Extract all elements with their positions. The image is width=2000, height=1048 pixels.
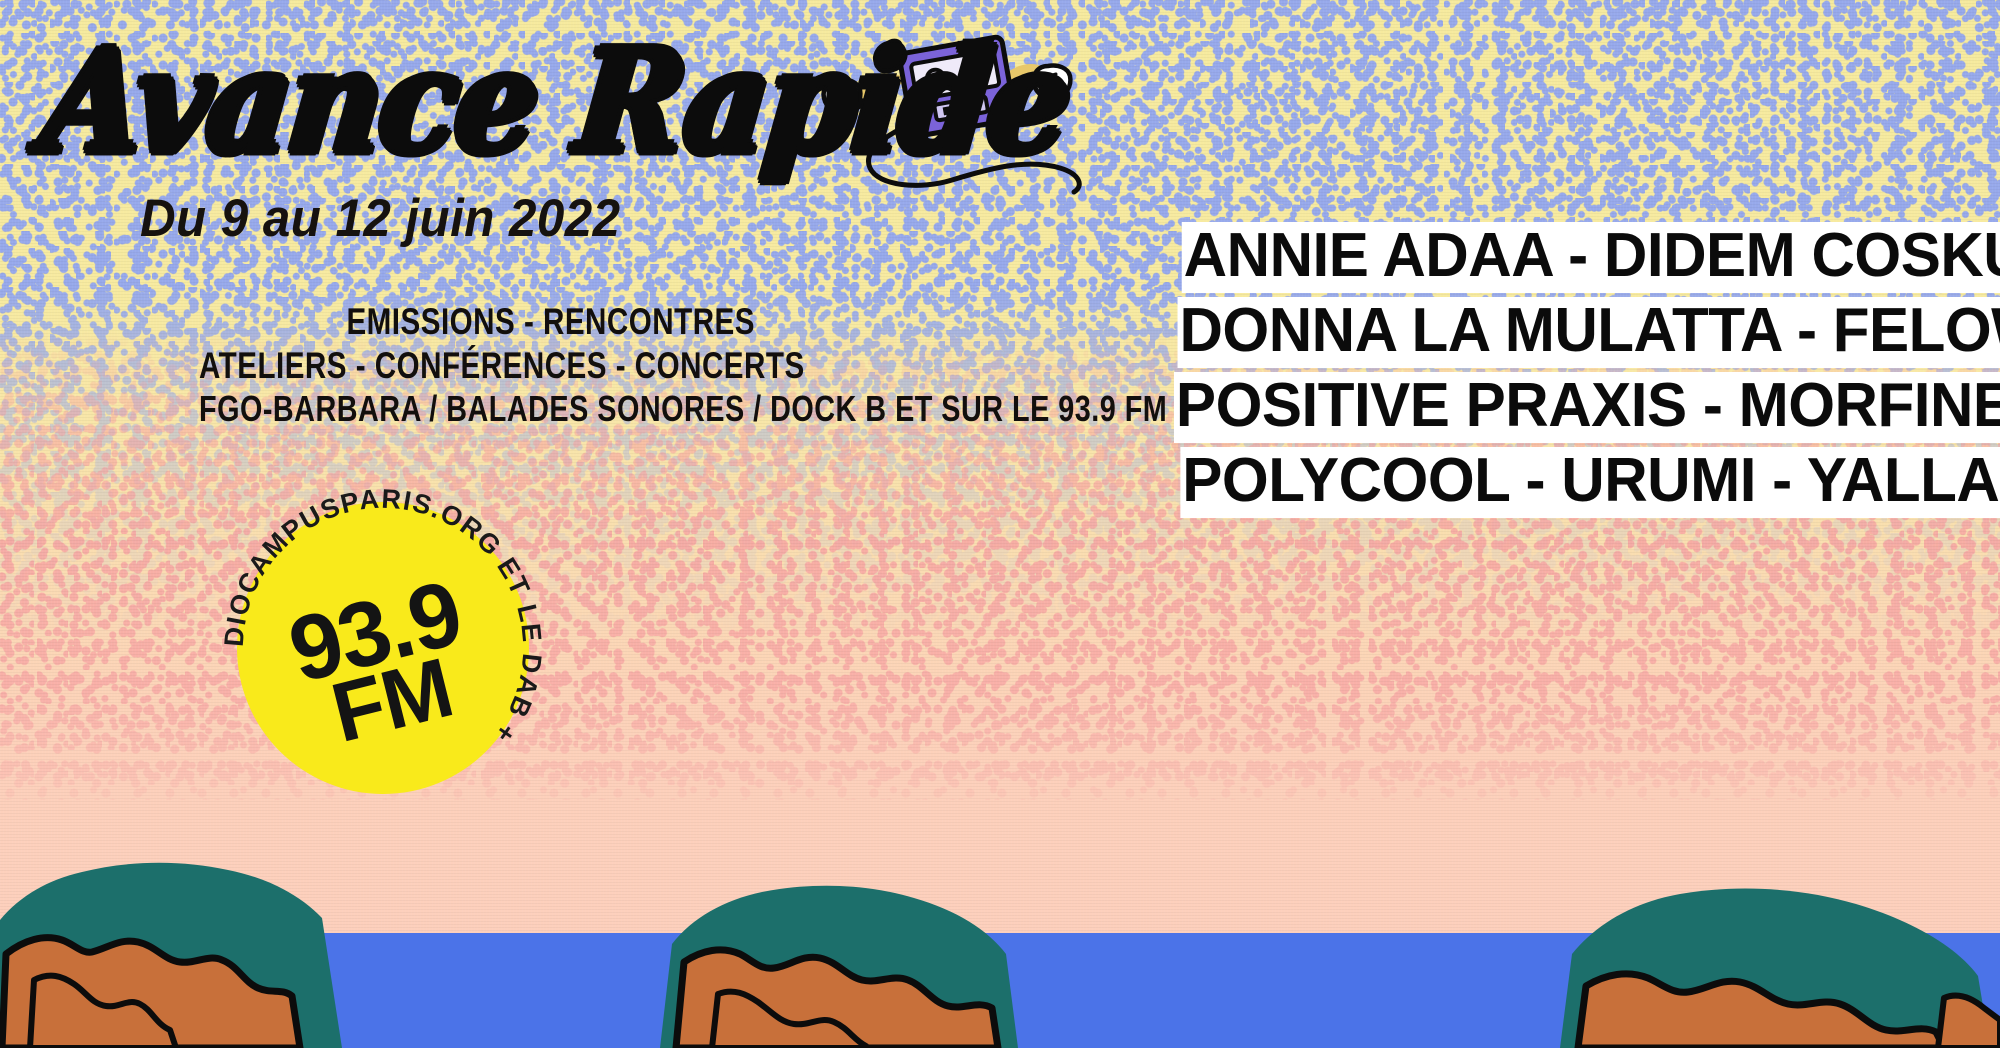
lineup-line-3: POSITIVE PRAXIS - MORFINE <box>1174 372 2000 443</box>
page-title: Avance Rapide <box>37 30 1076 173</box>
event-details-block: EMISSIONS - RENCONTRES ATELIERS - CONFÉR… <box>60 300 755 431</box>
lineup-row: DONNA LA MULATTA - FELOWER <box>1148 297 1968 368</box>
radio-frequency-badge-icon: SUR RADIOCAMPUSPARIS.ORG ET LE DAB + 93.… <box>213 478 553 818</box>
festival-poster: Avance Rapide Du 9 au 12 juin 2022 EMISS… <box>0 0 2000 1048</box>
artist-lineup-list: ANNIE ADAA - DIDEM COSKUNSEVEN DONNA LA … <box>1148 222 1968 522</box>
lineup-row: ANNIE ADAA - DIDEM COSKUNSEVEN <box>1148 222 1968 293</box>
lineup-row: POSITIVE PRAXIS - MORFINE <box>1148 372 1968 443</box>
detail-line-activities: EMISSIONS - RENCONTRES <box>199 300 755 344</box>
detail-line-venues: FGO-BARBARA / BALADES SONORES / DOCK B E… <box>199 387 755 431</box>
lineup-line-4: POLYCOOL - URUMI - YALLA QUEEN <box>1180 447 2000 518</box>
detail-line-formats: ATELIERS - CONFÉRENCES - CONCERTS <box>199 344 755 388</box>
lineup-line-2: DONNA LA MULATTA - FELOWER <box>1178 297 2000 368</box>
festival-dates: Du 9 au 12 juin 2022 <box>140 192 621 245</box>
lineup-row: POLYCOOL - URUMI - YALLA QUEEN <box>1148 447 1968 518</box>
lineup-line-1: ANNIE ADAA - DIDEM COSKUNSEVEN <box>1182 222 2000 293</box>
